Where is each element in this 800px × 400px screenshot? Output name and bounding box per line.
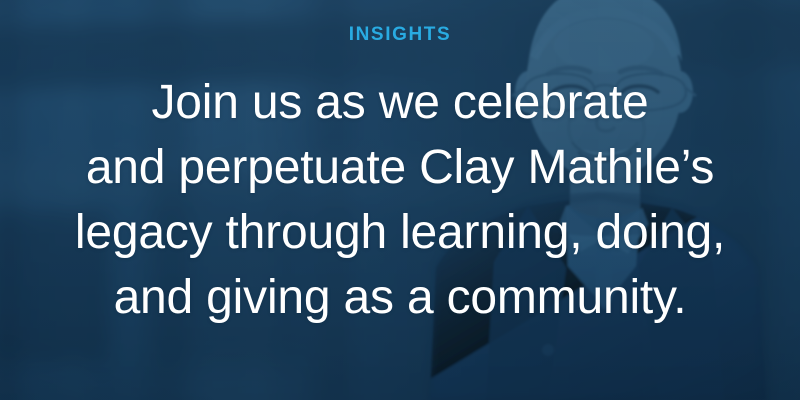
headline-line: Join us as we celebrate xyxy=(20,70,780,135)
headline-line: legacy through learning, doing, xyxy=(20,200,780,265)
banner-content: INSIGHTS Join us as we celebrate and per… xyxy=(0,0,800,400)
headline-line: and perpetuate Clay Mathile’s xyxy=(20,135,780,200)
headline-line: and giving as a community. xyxy=(20,265,780,330)
headline-text: Join us as we celebrate and perpetuate C… xyxy=(20,70,780,330)
eyebrow-label-insights: INSIGHTS xyxy=(349,25,452,44)
insights-banner: INSIGHTS Join us as we celebrate and per… xyxy=(0,0,800,400)
